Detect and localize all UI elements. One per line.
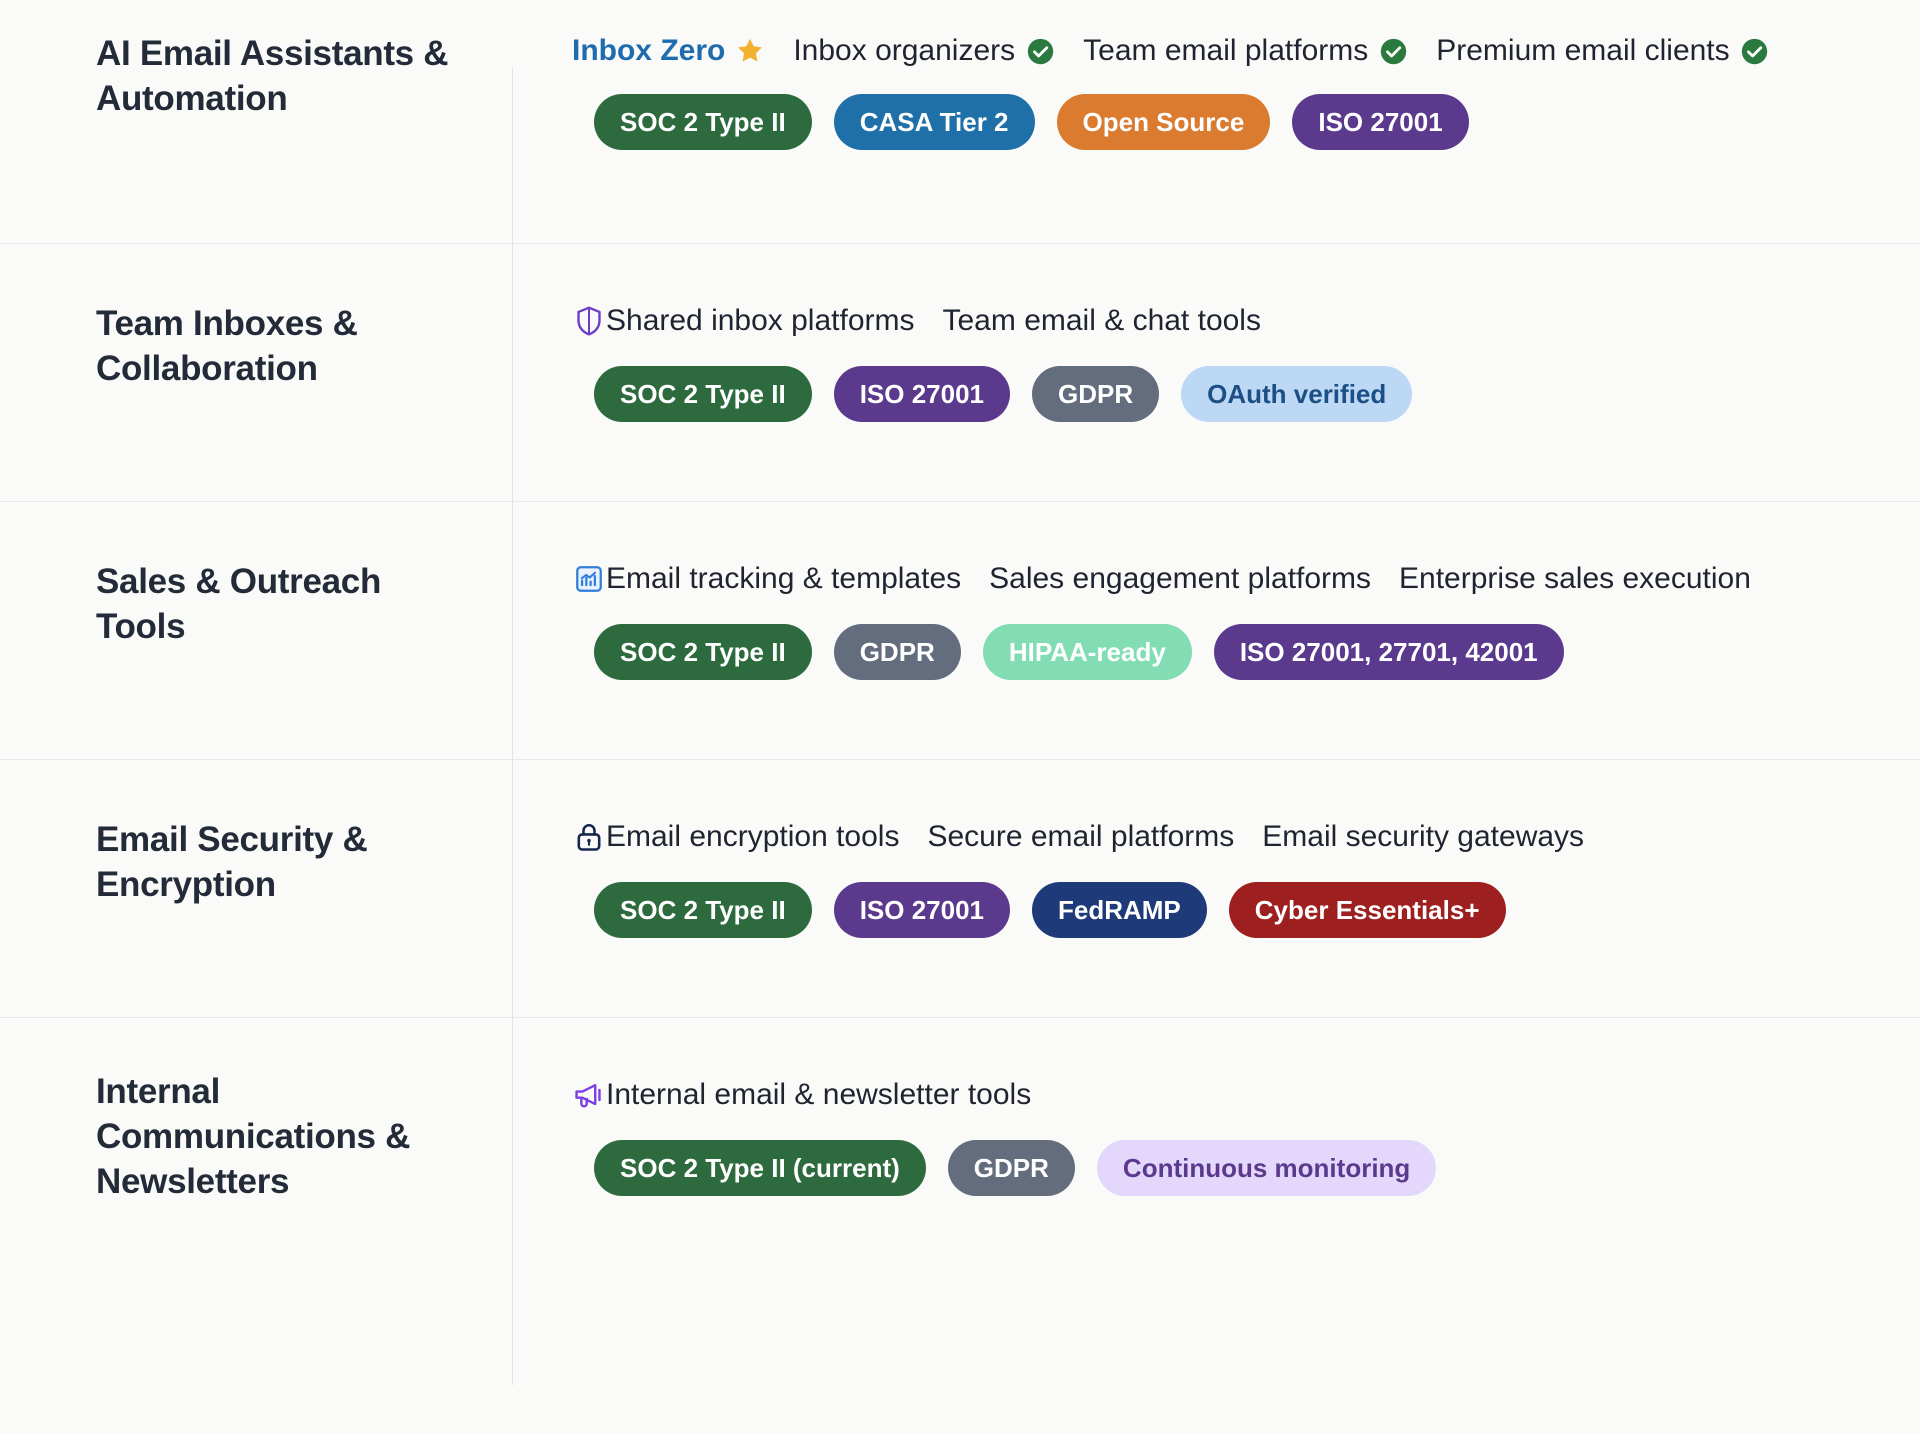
tool-item[interactable]: Email encryption tools [606,822,899,852]
featured-tool-item[interactable]: Inbox Zero [572,36,765,66]
star-icon [735,36,765,66]
compliance-badge[interactable]: ISO 27001 [834,366,1010,422]
tool-item-list: Inbox ZeroInbox organizersTeam email pla… [572,36,1880,66]
category-title: AI Email Assistants & Automation [0,0,512,122]
tool-item-label: Inbox Zero [572,36,725,66]
compliance-badge[interactable]: SOC 2 Type II [594,882,812,938]
category-title: Team Inboxes & Collaboration [0,244,512,392]
tool-item-label: Email encryption tools [606,822,899,852]
check-circle-icon [1378,36,1408,66]
compliance-badge[interactable]: FedRAMP [1032,882,1207,938]
tool-item[interactable]: Inbox organizers [793,36,1055,66]
tool-item-label: Email security gateways [1262,822,1584,852]
compliance-badge[interactable]: GDPR [948,1140,1075,1196]
compliance-badge-list: SOC 2 Type IIISO 27001FedRAMPCyber Essen… [572,882,1880,938]
category-content: Internal email & newsletter toolsSOC 2 T… [512,1018,1920,1196]
category-content: Email encryption toolsSecure email platf… [512,760,1920,938]
tool-item[interactable]: Internal email & newsletter tools [606,1080,1031,1110]
category-title: Internal Communications & Newsletters [0,1018,512,1204]
bar-chart-icon [572,562,606,596]
compliance-badge[interactable]: SOC 2 Type II [594,94,812,150]
compliance-badge[interactable]: Open Source [1057,94,1271,150]
tool-item[interactable]: Email tracking & templates [606,564,961,594]
compliance-badge[interactable]: ISO 27001 [834,882,1010,938]
tool-item[interactable]: Email security gateways [1262,822,1584,852]
category-row-list: AI Email Assistants & AutomationInbox Ze… [0,0,1920,1288]
tool-item-label: Email tracking & templates [606,564,961,594]
megaphone-icon [572,1078,606,1112]
compliance-badge-list: SOC 2 Type IIISO 27001GDPROAuth verified [572,366,1880,422]
compliance-badge[interactable]: SOC 2 Type II [594,366,812,422]
category-row: Team Inboxes & CollaborationShared inbox… [0,244,1920,502]
category-row: Email Security & EncryptionEmail encrypt… [0,760,1920,1018]
compliance-badge[interactable]: SOC 2 Type II [594,624,812,680]
compliance-badge[interactable]: HIPAA-ready [983,624,1192,680]
tool-item-label: Secure email platforms [927,822,1234,852]
compliance-badge-list: SOC 2 Type II (current)GDPRContinuous mo… [572,1140,1880,1196]
tool-item-label: Sales engagement platforms [989,564,1371,594]
category-content: Email tracking & templatesSales engageme… [512,502,1920,680]
tool-item-label: Shared inbox platforms [606,306,915,336]
category-row: AI Email Assistants & AutomationInbox Ze… [0,0,1920,244]
tool-item-list: Internal email & newsletter tools [572,1078,1880,1112]
tool-item-label: Inbox organizers [793,36,1015,66]
tool-item-list: Email encryption toolsSecure email platf… [572,820,1880,854]
category-content: Inbox ZeroInbox organizersTeam email pla… [512,0,1920,150]
category-title: Sales & Outreach Tools [0,502,512,650]
tool-item[interactable]: Secure email platforms [927,822,1234,852]
tool-item[interactable]: Premium email clients [1436,36,1769,66]
tool-item-label: Premium email clients [1436,36,1729,66]
category-row: Sales & Outreach ToolsEmail tracking & t… [0,502,1920,760]
tool-item[interactable]: Enterprise sales execution [1399,564,1751,594]
compliance-badge[interactable]: SOC 2 Type II (current) [594,1140,926,1196]
tool-item-list: Email tracking & templatesSales engageme… [572,562,1880,596]
compliance-badge[interactable]: ISO 27001, 27701, 42001 [1214,624,1564,680]
compliance-badge[interactable]: OAuth verified [1181,366,1412,422]
compliance-badge[interactable]: GDPR [834,624,961,680]
tool-item[interactable]: Shared inbox platforms [606,306,915,336]
category-row: Internal Communications & NewslettersInt… [0,1018,1920,1288]
comparison-board: AI Email Assistants & AutomationInbox Ze… [0,0,1920,1433]
tool-item-label: Enterprise sales execution [1399,564,1751,594]
tool-item-label: Internal email & newsletter tools [606,1080,1031,1110]
compliance-badge[interactable]: Cyber Essentials+ [1229,882,1506,938]
check-circle-icon [1025,36,1055,66]
compliance-badge-list: SOC 2 Type IIGDPRHIPAA-readyISO 27001, 2… [572,624,1880,680]
compliance-badge-list: SOC 2 Type IICASA Tier 2Open SourceISO 2… [572,94,1880,150]
compliance-badge[interactable]: CASA Tier 2 [834,94,1035,150]
category-title: Email Security & Encryption [0,760,512,908]
compliance-badge[interactable]: Continuous monitoring [1097,1140,1436,1196]
tool-item[interactable]: Sales engagement platforms [989,564,1371,594]
check-circle-icon [1740,36,1770,66]
lock-icon [572,820,606,854]
tool-item-list: Shared inbox platformsTeam email & chat … [572,304,1880,338]
tool-item-label: Team email & chat tools [943,306,1261,336]
compliance-badge[interactable]: ISO 27001 [1292,94,1468,150]
tool-item-label: Team email platforms [1083,36,1368,66]
tool-item[interactable]: Team email & chat tools [943,306,1261,336]
compliance-badge[interactable]: GDPR [1032,366,1159,422]
tool-item[interactable]: Team email platforms [1083,36,1408,66]
category-content: Shared inbox platformsTeam email & chat … [512,244,1920,422]
shield-icon [572,304,606,338]
